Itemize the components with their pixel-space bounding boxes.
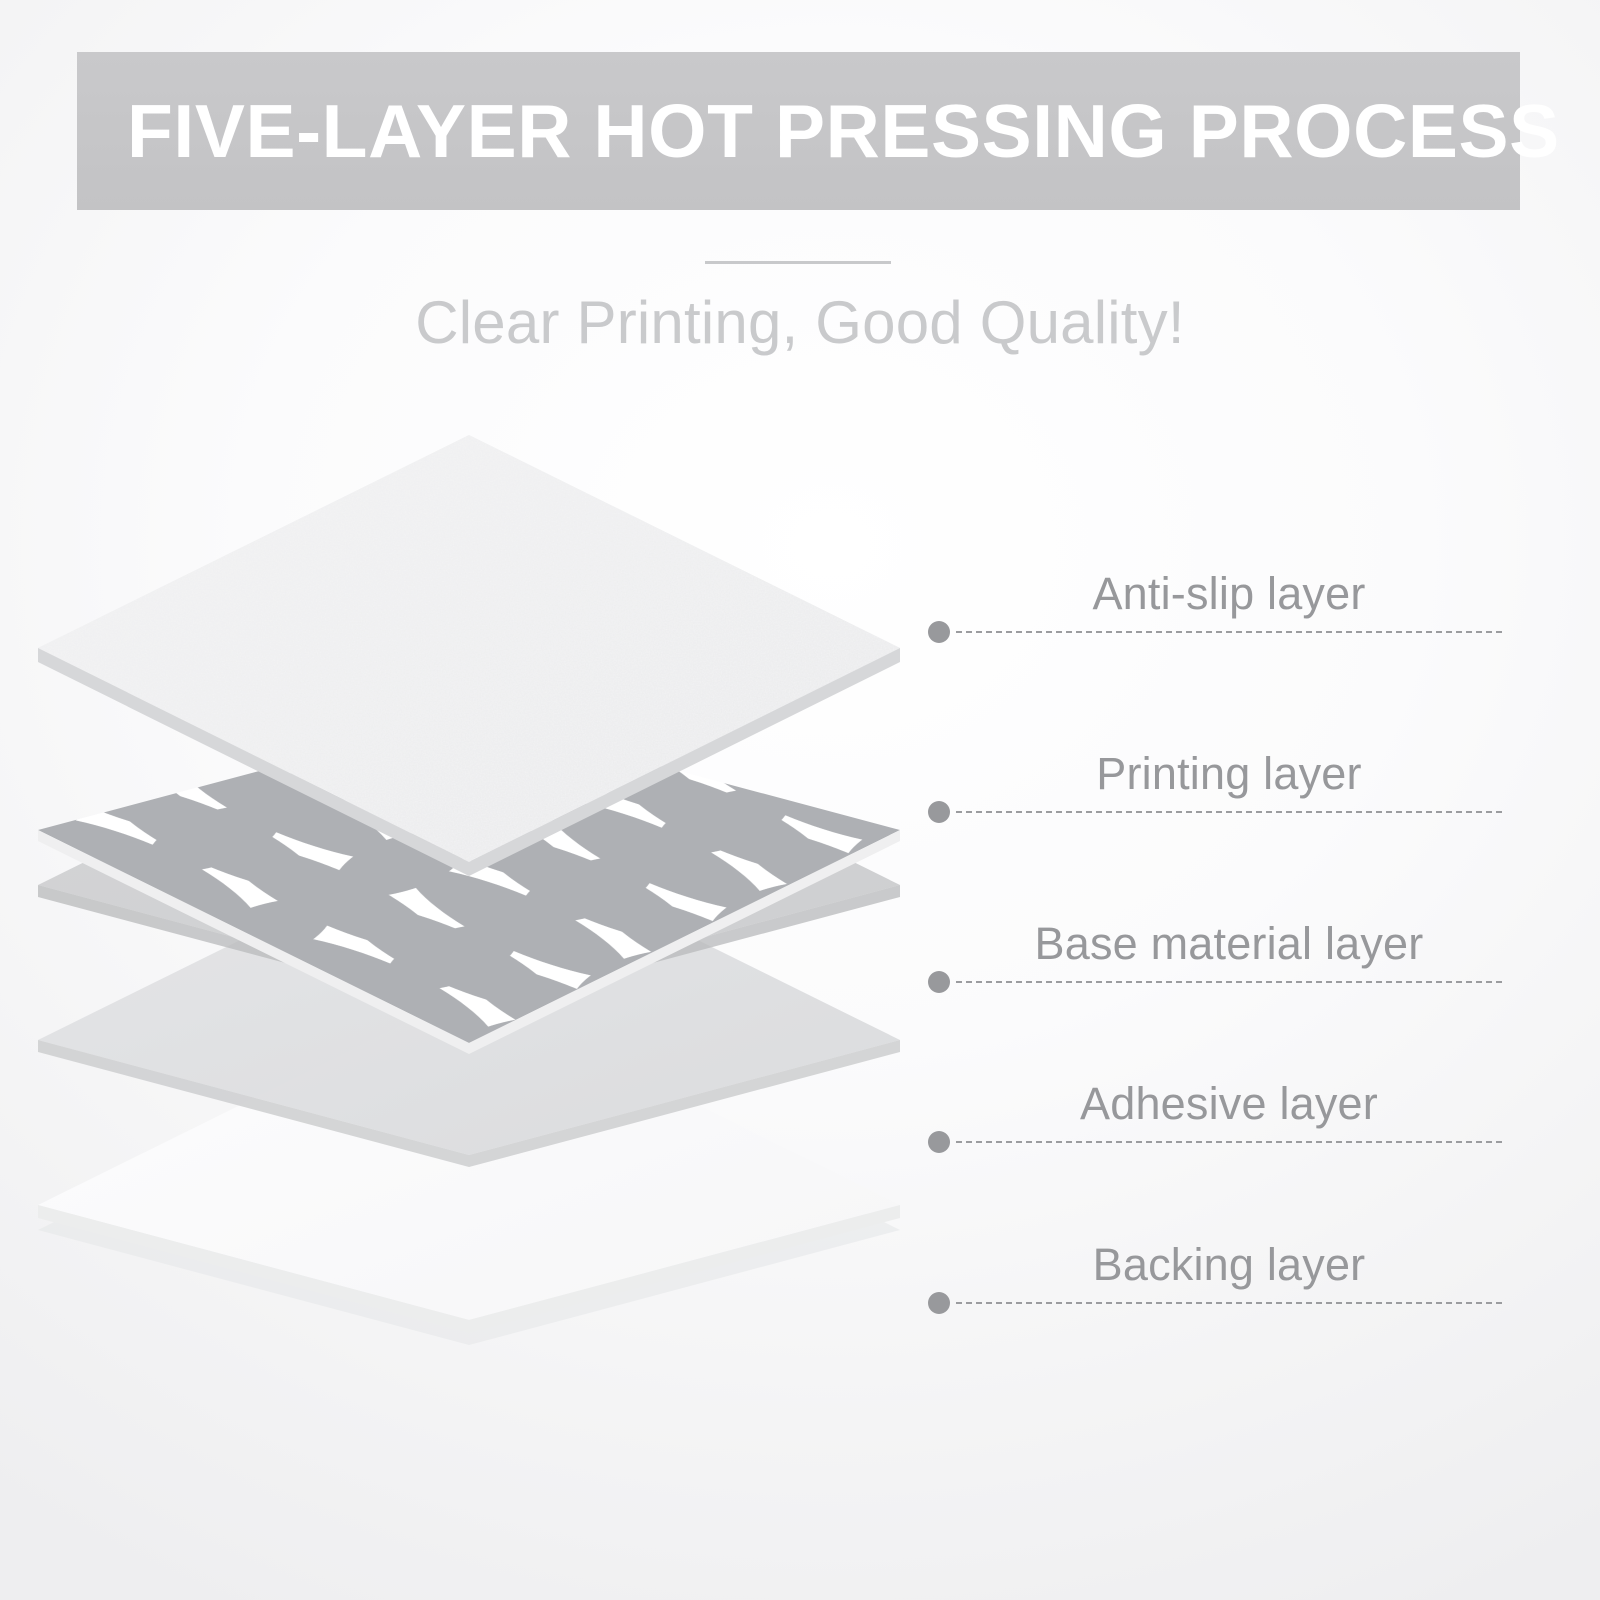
callout-dot-icon bbox=[928, 801, 950, 823]
callout-dot-icon bbox=[928, 1292, 950, 1314]
callout-leader-line bbox=[956, 981, 1502, 983]
callout-label: Base material layer bbox=[956, 921, 1502, 966]
callout-leader-line bbox=[956, 1302, 1502, 1304]
callout-leader-line bbox=[956, 811, 1502, 813]
callout-list: Anti-slip layer Printing layer Base mate… bbox=[0, 0, 1600, 1600]
callout-leader-line bbox=[956, 631, 1502, 633]
callout-dot-icon bbox=[928, 1131, 950, 1153]
callout-dot-icon bbox=[928, 621, 950, 643]
callout-label: Adhesive layer bbox=[956, 1081, 1502, 1126]
callout-leader-line bbox=[956, 1141, 1502, 1143]
infographic-root: FIVE-LAYER HOT PRESSING PROCESS Clear Pr… bbox=[0, 0, 1600, 1600]
callout-label: Anti-slip layer bbox=[956, 571, 1502, 616]
callout-label: Printing layer bbox=[956, 751, 1502, 796]
callout-label: Backing layer bbox=[956, 1242, 1502, 1287]
callout-dot-icon bbox=[928, 971, 950, 993]
